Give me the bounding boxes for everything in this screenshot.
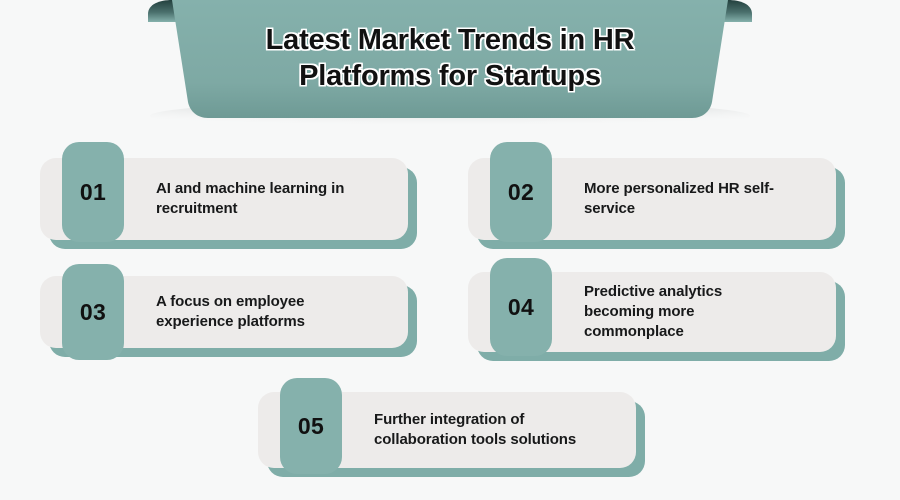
list-item[interactable]: 05 Further integration of collaboration … — [258, 392, 636, 468]
card-text: More personalized HR self- service — [584, 158, 822, 240]
card-text: Further integration of collaboration too… — [374, 392, 622, 468]
card-text-line: More personalized HR self- — [584, 179, 774, 199]
card-text-line: becoming more — [584, 302, 722, 322]
card-number-badge: 01 — [62, 142, 124, 242]
card-number-badge: 04 — [490, 258, 552, 356]
card-text: Predictive analytics becoming more commo… — [584, 272, 822, 352]
card-text-line: commonplace — [584, 322, 722, 342]
card-text-line: experience platforms — [156, 312, 305, 332]
header-banner: Latest Market Trends in HR Platforms for… — [0, 0, 900, 138]
card-text: AI and machine learning in recruitment — [156, 158, 394, 240]
card-number-badge: 02 — [490, 142, 552, 242]
page-title: Latest Market Trends in HR Platforms for… — [190, 22, 710, 95]
card-text-line: collaboration tools solutions — [374, 430, 576, 450]
card-text-line: recruitment — [156, 199, 344, 219]
list-item[interactable]: 01 AI and machine learning in recruitmen… — [40, 158, 408, 240]
card-text-line: service — [584, 199, 774, 219]
list-item[interactable]: 03 A focus on employee experience platfo… — [40, 276, 408, 348]
card-number-badge: 05 — [280, 378, 342, 474]
page-title-line-2: Platforms for Startups — [190, 58, 710, 94]
card-text-line: AI and machine learning in — [156, 179, 344, 199]
page-title-line-1: Latest Market Trends in HR — [190, 22, 710, 58]
card-text-line: Further integration of — [374, 410, 576, 430]
card-text: A focus on employee experience platforms — [156, 276, 394, 348]
list-item[interactable]: 02 More personalized HR self- service — [468, 158, 836, 240]
card-text-line: A focus on employee — [156, 292, 305, 312]
card-number-badge: 03 — [62, 264, 124, 360]
card-text-line: Predictive analytics — [584, 282, 722, 302]
list-item[interactable]: 04 Predictive analytics becoming more co… — [468, 272, 836, 352]
